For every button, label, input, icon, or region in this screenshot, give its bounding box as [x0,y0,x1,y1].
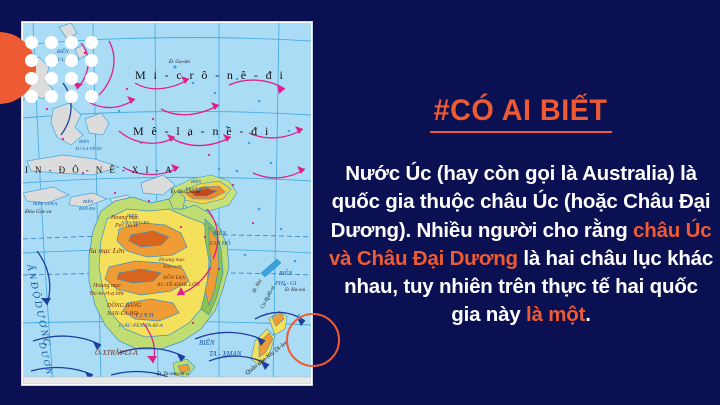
map-label-hawaii: Đ. Ha-oai [284,288,306,293]
infographic-canvas: M i - c r ô - n ê - đ i M ê - l a - n ê … [0,0,720,405]
body-paragraph: Nước Úc (hay còn gọi là Australia) là qu… [328,160,714,330]
grid-dot [65,54,78,67]
text-column: #CÓ AI BIẾT Nước Úc (hay còn gọi là Aust… [322,0,720,405]
map-label-tasmania: Đ. Ta-xma-ni-a [156,371,189,377]
body-highlight-text: là một [526,303,585,326]
map-label-java: Đảo Gia-va [24,209,52,215]
grid-dot [85,72,98,85]
map-label-simpson: Hoang mạc [158,257,185,263]
map-label-sea-solomon: BIỂN [191,179,202,184]
map-label-desert-pernati2: Pec-na-ti [114,223,138,229]
map-label-sea-sulawesi2: XU-LA-VÊ-DI [74,146,102,151]
body-plain-text: . [585,303,591,326]
map-label-sea-coral2: XAN HÔ [208,239,231,247]
map-label-nullarbor: ĐỒNG BẰNG [106,301,142,309]
grid-dot [45,54,58,67]
dot-grid-decoration [21,33,101,105]
page-headline: #CÓ AI BIẾT [434,96,608,126]
grid-dot [25,90,38,103]
grid-dot [65,72,78,85]
grid-dot [45,90,58,103]
map-label-simpson2: Xim-xơn [162,264,182,270]
map-label-nullarbor2: NAN-LA-BO [106,311,138,317]
map-label-victoria-desert: Hoang mạc [92,283,121,289]
map-label-sea-sulawesi: BIỂN [79,139,90,144]
grid-dot [25,72,38,85]
map-label-sea-coral: BIỂN [213,229,227,237]
map-label-sea-banda: BIỂN [83,199,94,204]
map-label-sea-tasman2: TA - XMAN [209,350,242,358]
map-label-melanesia: M ê - l a - n ê - đ i [133,124,271,138]
map-label-indonesia: I N - Đ Ô - N Ê - X I - A [25,165,174,175]
map-label-great-sandy: Sa mạc Lớn [89,246,125,255]
map-label-desert-pernati: Hoang mạc [110,215,139,221]
headline-container: #CÓ AI BIẾT [430,96,611,133]
grid-dot [25,54,38,67]
grid-dot [45,36,58,49]
map-label-micronesia: M i - c r ô - n ê - đ i [135,68,285,82]
map-label-australia: Ô-XTRÂY-LI-A [95,349,138,357]
map-label-new-guinea: Đ. Niu Ghi-nê [170,189,201,195]
map-label-artesian2: AC-TÊ-ĐIAK LỚN [156,280,200,288]
map-label-sea-java: BIỂN GIAVA [33,201,57,206]
grid-dot [65,90,78,103]
map-label-victoria-desert2: Vic-to-ri-a lớn [89,291,124,297]
grid-dot [85,54,98,67]
grid-dot [25,36,38,49]
map-label-guam: Đ. Gu-am [168,59,190,65]
map-label-sea-fiji: BIỂN [279,269,293,277]
map-label-artesian: BỒN ĐỊA [163,273,185,281]
map-label-sea-fiji2: PHI - GI [274,281,297,287]
map-label-gulf-carpentaria: V Ị N H [135,313,154,319]
grid-dot [85,36,98,49]
grid-dot [45,72,58,85]
grid-dot [85,90,98,103]
map-label-sea-banda2: BAN-ĐA [79,206,96,211]
map-label-gulf-carpentaria2: C-ÁC-PEN-TA-RI-A [119,321,164,329]
map-label-sea-tasman: BIỂN [199,339,215,347]
grid-dot [65,36,78,49]
